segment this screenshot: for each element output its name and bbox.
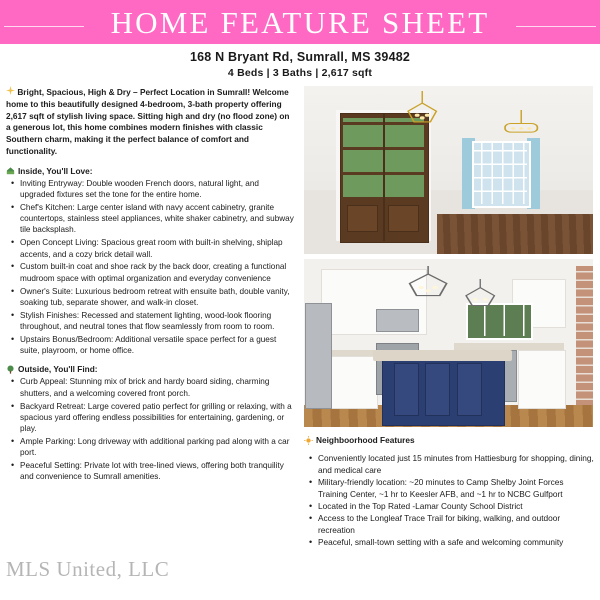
header-rule-left xyxy=(4,26,84,27)
outside-feature-list: Curb Appeal: Stunning mix of brick and h… xyxy=(6,376,294,482)
header-band: HOME FEATURE SHEET xyxy=(0,0,600,44)
inside-heading-label: Inside, You'll Love: xyxy=(18,166,93,176)
neighborhood-heading-label: Neighboorhood Features xyxy=(316,435,415,445)
list-item: Chef's Kitchen: Large center island with… xyxy=(20,202,294,236)
right-column: Neighboorhood Features Conveniently loca… xyxy=(300,86,600,550)
pendant-light-icon xyxy=(501,110,541,147)
content-columns: Bright, Spacious, High & Dry – Perfect L… xyxy=(0,86,600,550)
house-icon xyxy=(6,166,15,175)
intro-headline: Bright, Spacious, High & Dry – Perfect L… xyxy=(17,87,250,97)
feature-sheet: HOME FEATURE SHEET 168 N Bryant Rd, Sumr… xyxy=(0,0,600,600)
outside-heading: Outside, You'll Find: xyxy=(6,364,294,374)
list-item: Peaceful, small-town setting with a safe… xyxy=(318,537,594,549)
mls-watermark: MLS United, LLC xyxy=(6,557,169,582)
neighborhood-feature-list: Conveniently located just 15 minutes fro… xyxy=(304,453,594,549)
list-item: Custom built-in coat and shoe rack by th… xyxy=(20,261,294,284)
list-item: Stylish Finishes: Recessed and statement… xyxy=(20,310,294,333)
property-specs: 4 Beds | 3 Baths | 2,617 sqft xyxy=(0,67,600,79)
inside-heading: Inside, You'll Love: xyxy=(6,166,294,176)
list-item: Backyard Retreat: Large covered patio pe… xyxy=(20,401,294,435)
property-address: 168 N Bryant Rd, Sumrall, MS 39482 xyxy=(0,50,600,64)
header-rule-right xyxy=(516,26,596,27)
sun-icon xyxy=(304,436,313,445)
left-column: Bright, Spacious, High & Dry – Perfect L… xyxy=(0,86,300,550)
neighborhood-heading: Neighboorhood Features xyxy=(304,435,594,445)
chandelier-icon xyxy=(402,91,442,131)
inside-feature-list: Inviting Entryway: Double wooden French … xyxy=(6,178,294,357)
list-item: Open Concept Living: Spacious great room… xyxy=(20,237,294,260)
list-item: Military-friendly location: ~20 minutes … xyxy=(318,477,594,501)
list-item: Upstairs Bonus/Bedroom: Additional versa… xyxy=(20,334,294,357)
list-item: Conveniently located just 15 minutes fro… xyxy=(318,453,594,477)
kitchen-pendant-icon xyxy=(460,279,500,316)
address-block: 168 N Bryant Rd, Sumrall, MS 39482 4 Bed… xyxy=(0,44,600,79)
sparkle-icon xyxy=(6,86,15,95)
list-item: Owner's Suite: Luxurious bedroom retreat… xyxy=(20,286,294,309)
kitchen-chandelier-icon xyxy=(405,266,451,306)
list-item: Ample Parking: Long driveway with additi… xyxy=(20,436,294,459)
list-item: Curb Appeal: Stunning mix of brick and h… xyxy=(20,376,294,399)
list-item: Peaceful Setting: Private lot with tree-… xyxy=(20,460,294,483)
tree-icon xyxy=(6,365,15,374)
intro-paragraph: Bright, Spacious, High & Dry – Perfect L… xyxy=(6,86,294,158)
page-title: HOME FEATURE SHEET xyxy=(97,7,504,38)
outside-heading-label: Outside, You'll Find: xyxy=(18,364,98,374)
kitchen-photo xyxy=(304,259,593,427)
list-item: Located in the Top Rated -Lamar County S… xyxy=(318,501,594,513)
intro-body: Welcome home to this beautifully designe… xyxy=(6,87,290,156)
entryway-photo xyxy=(304,86,593,254)
list-item: Access to the Longleaf Trace Trail for b… xyxy=(318,513,594,537)
list-item: Inviting Entryway: Double wooden French … xyxy=(20,178,294,201)
